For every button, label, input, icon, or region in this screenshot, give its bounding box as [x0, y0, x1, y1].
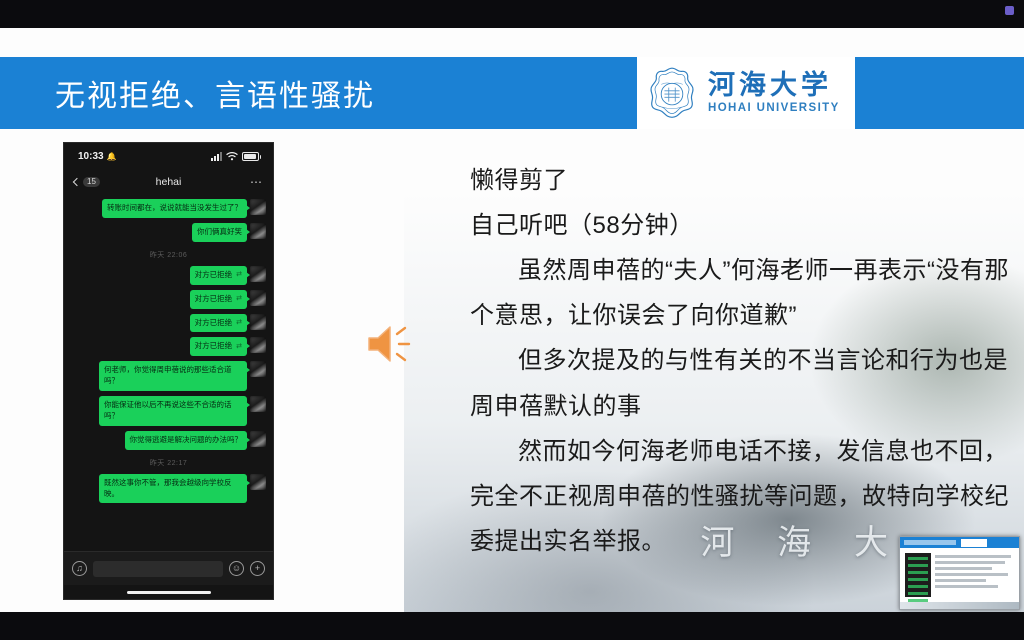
transfer-icon: ⇄	[236, 270, 242, 280]
unread-badge: 15	[83, 177, 100, 187]
transfer-icon: ⇄	[236, 294, 242, 304]
transfer-declined-bubble[interactable]: 对方已拒绝⇄	[190, 266, 247, 285]
slide-thumbnail-preview[interactable]	[899, 536, 1020, 610]
bubble-text: 对方已拒绝	[195, 294, 233, 305]
message-input[interactable]	[93, 561, 223, 577]
transfer-icon: ⇄	[236, 342, 242, 352]
chat-message-row: 你们俩真好笑	[71, 223, 266, 242]
body-paragraph: 但多次提及的与性有关的不当言论和行为也是周申蓓默认的事	[470, 338, 1010, 428]
logo-english-name: HOHAI UNIVERSITY	[708, 102, 840, 114]
status-time: 10:33	[78, 151, 104, 162]
slide-canvas: 河 海 大 无视拒绝、言语性骚扰 河海大学 HOHAI UNIVERSITY	[0, 28, 1024, 612]
slide-header-band: 无视拒绝、言语性骚扰	[0, 57, 1024, 129]
chat-bubble[interactable]: 你们俩真好笑	[192, 223, 247, 242]
emoji-icon[interactable]: ☺	[229, 561, 244, 576]
chat-timestamp: 昨天 22:17	[71, 458, 266, 468]
avatar[interactable]	[250, 337, 266, 353]
chat-message-row: 对方已拒绝⇄	[71, 314, 266, 333]
chat-message-row: 你能保证他以后不再说这些不合适的话吗？	[71, 396, 266, 426]
body-paragraph: 虽然周申蓓的“夫人”何海老师一再表示“没有那个意思，让你误会了向你道歉”	[470, 248, 1010, 338]
bubble-text: 对方已拒绝	[195, 318, 233, 329]
pip-phone-thumb	[905, 553, 931, 597]
avatar[interactable]	[250, 396, 266, 412]
avatar[interactable]	[250, 223, 266, 239]
top-letterbox-bar	[0, 0, 1024, 28]
cellular-signal-icon	[211, 152, 222, 161]
avatar[interactable]	[250, 431, 266, 447]
speaker-audio-icon[interactable]	[363, 320, 415, 368]
transfer-icon: ⇄	[236, 318, 242, 328]
pip-footer	[900, 602, 1019, 610]
chat-message-row: 你觉得逃避是解决问题的办法吗？	[71, 431, 266, 450]
transfer-declined-bubble[interactable]: 对方已拒绝⇄	[190, 337, 247, 356]
logo-text-block: 河海大学 HOHAI UNIVERSITY	[708, 72, 840, 114]
avatar[interactable]	[250, 314, 266, 330]
avatar[interactable]	[250, 474, 266, 490]
phone-status-bar: 10:33 🔔	[64, 143, 273, 169]
chat-bubble[interactable]: 你觉得逃避是解决问题的办法吗？	[125, 431, 248, 450]
chat-timestamp: 昨天 22:06	[71, 250, 266, 260]
page-title: 无视拒绝、言语性骚扰	[55, 71, 375, 115]
chevron-left-icon	[73, 177, 81, 185]
battery-icon	[242, 152, 259, 161]
avatar[interactable]	[250, 361, 266, 377]
voice-input-icon[interactable]: ♫	[72, 561, 87, 576]
body-paragraph: 自己听吧（58分钟）	[470, 203, 1010, 248]
status-left: 10:33 🔔	[78, 151, 117, 162]
slide-body-text: 懒得剪了自己听吧（58分钟）虽然周申蓓的“夫人”何海老师一再表示“没有那个意思，…	[470, 158, 1010, 564]
chat-bubble[interactable]: 转账时间都在，说说就能当没发生过了？	[102, 199, 247, 218]
transfer-declined-bubble[interactable]: 对方已拒绝⇄	[190, 290, 247, 309]
recording-indicator-dot	[1005, 6, 1014, 15]
pip-text-lines	[935, 553, 1014, 597]
bubble-text: 对方已拒绝	[195, 270, 233, 281]
phone-input-bar[interactable]: ♫ ☺ +	[64, 551, 273, 585]
pip-header-band	[900, 537, 1019, 548]
phone-nav-bar: 15 hehai ⋯	[64, 169, 273, 194]
chat-message-row: 何老师，你觉得周申蓓说的那些适合道吗？	[71, 361, 266, 391]
avatar[interactable]	[250, 290, 266, 306]
chat-bubble[interactable]: 何老师，你觉得周申蓓说的那些适合道吗？	[99, 361, 247, 391]
home-indicator	[64, 585, 273, 599]
bubble-text: 对方已拒绝	[195, 341, 233, 352]
chat-message-row: 对方已拒绝⇄	[71, 337, 266, 356]
bottom-letterbox-bar	[0, 612, 1024, 640]
screen-root: 河 海 大 无视拒绝、言语性骚扰 河海大学 HOHAI UNIVERSITY	[0, 0, 1024, 640]
status-right	[211, 151, 259, 161]
pip-content	[900, 548, 1019, 602]
chat-message-row: 既然这事你不管，那我会越级向学校反映。	[71, 474, 266, 504]
chat-bubble[interactable]: 你能保证他以后不再说这些不合适的话吗？	[99, 396, 247, 426]
plus-icon[interactable]: +	[250, 561, 265, 576]
transfer-declined-bubble[interactable]: 对方已拒绝⇄	[190, 314, 247, 333]
phone-screenshot: 10:33 🔔 15 hehai	[63, 142, 274, 600]
chat-bubble[interactable]: 既然这事你不管，那我会越级向学校反映。	[99, 474, 247, 504]
wifi-icon	[226, 151, 238, 161]
back-button[interactable]: 15	[74, 177, 100, 187]
logo-chinese-name: 河海大学	[708, 72, 840, 100]
avatar[interactable]	[250, 266, 266, 282]
more-dots-icon[interactable]: ⋯	[250, 176, 263, 188]
hohai-seal-icon	[645, 66, 699, 120]
chat-message-list[interactable]: 转账时间都在，说说就能当没发生过了？你们俩真好笑昨天 22:06对方已拒绝⇄对方…	[64, 194, 273, 551]
chat-message-row: 对方已拒绝⇄	[71, 290, 266, 309]
avatar[interactable]	[250, 199, 266, 215]
chat-message-row: 对方已拒绝⇄	[71, 266, 266, 285]
chat-message-row: 转账时间都在，说说就能当没发生过了？	[71, 199, 266, 218]
body-paragraph: 懒得剪了	[470, 158, 1010, 203]
university-logo: 河海大学 HOHAI UNIVERSITY	[637, 57, 855, 129]
bell-mute-icon: 🔔	[107, 152, 117, 161]
